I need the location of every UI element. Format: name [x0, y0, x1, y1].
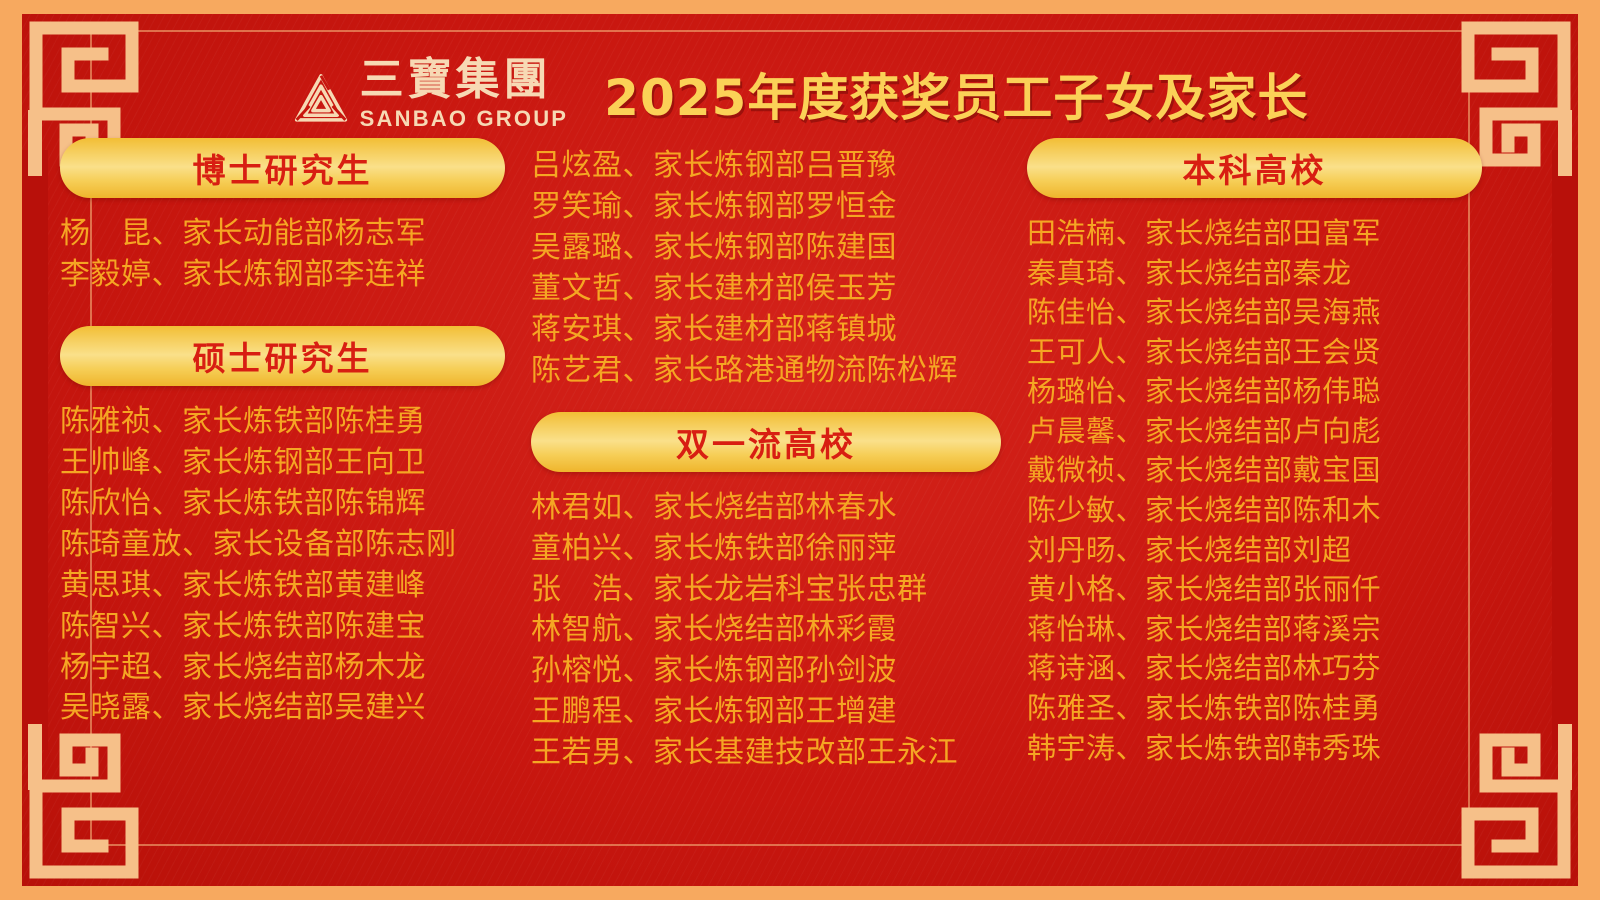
list-item: 杨 昆、家长动能部杨志军	[60, 214, 505, 255]
list-item: 杨宇超、家长烧结部杨木龙	[60, 648, 505, 689]
section-label-double-first-class: 双一流高校	[676, 418, 856, 466]
list-item: 陈欣怡、家长炼铁部陈锦辉	[60, 484, 505, 525]
list-item: 陈雅祯、家长炼铁部陈桂勇	[60, 402, 505, 443]
list-item: 蒋安琪、家长建材部蒋镇城	[531, 310, 1001, 351]
list-item: 戴微祯、家长烧结部戴宝国	[1027, 451, 1482, 491]
list-item: 王若男、家长基建技改部王永江	[531, 733, 1001, 774]
brand-name-cn: 三寶集團	[360, 58, 569, 102]
section-label-masters: 硕士研究生	[193, 332, 373, 380]
list-item: 童柏兴、家长炼铁部徐丽萍	[531, 529, 1001, 570]
list-item: 黄小格、家长烧结部张丽仟	[1027, 570, 1482, 610]
list-item: 卢晨馨、家长烧结部卢向彪	[1027, 412, 1482, 452]
brand-name-en: SANBAO GROUP	[360, 108, 569, 130]
list-item: 王帅峰、家长炼钢部王向卫	[60, 443, 505, 484]
list-item: 韩宇涛、家长炼铁部韩秀珠	[1027, 729, 1482, 769]
list-item: 孙榕悦、家长炼钢部孙剑波	[531, 651, 1001, 692]
section-label-doctoral: 博士研究生	[193, 144, 373, 192]
list-masters-middle: 吕炫盈、家长炼钢部吕晋豫 罗笑瑜、家长炼钢部罗恒金 吴露璐、家长炼钢部陈建国 董…	[531, 146, 1001, 392]
list-item: 秦真琦、家长烧结部秦龙	[1027, 254, 1482, 294]
list-item: 杨璐怡、家长烧结部杨伟聪	[1027, 372, 1482, 412]
list-undergraduate: 田浩楠、家长烧结部田富军 秦真琦、家长烧结部秦龙 陈佳怡、家长烧结部吴海燕 王可…	[1027, 214, 1482, 768]
list-masters-left: 陈雅祯、家长炼铁部陈桂勇 王帅峰、家长炼钢部王向卫 陈欣怡、家长炼铁部陈锦辉 陈…	[60, 402, 505, 730]
poster-root: 三寶集團 SANBAO GROUP 2025年度获奖员工子女及家长 博士研究生 …	[0, 0, 1600, 900]
section-header-double-first-class: 双一流高校	[531, 412, 1001, 472]
poster-header: 三寶集團 SANBAO GROUP 2025年度获奖员工子女及家长	[0, 48, 1600, 140]
column-left: 博士研究生 杨 昆、家长动能部杨志军 李毅婷、家长炼钢部李连祥 硕士研究生 陈雅…	[60, 138, 505, 768]
section-header-undergraduate: 本科高校	[1027, 138, 1482, 198]
list-item: 林君如、家长烧结部林春水	[531, 488, 1001, 529]
list-item: 刘丹旸、家长烧结部刘超	[1027, 531, 1482, 571]
list-item: 王可人、家长烧结部王会贤	[1027, 333, 1482, 373]
list-item: 林智航、家长烧结部林彩霞	[531, 610, 1001, 651]
column-right: 本科高校 田浩楠、家长烧结部田富军 秦真琦、家长烧结部秦龙 陈佳怡、家长烧结部吴…	[1027, 138, 1482, 768]
list-item: 黄思琪、家长炼铁部黄建峰	[60, 566, 505, 607]
list-item: 吕炫盈、家长炼钢部吕晋豫	[531, 146, 1001, 187]
content-columns: 博士研究生 杨 昆、家长动能部杨志军 李毅婷、家长炼钢部李连祥 硕士研究生 陈雅…	[60, 138, 1540, 768]
list-item: 蒋怡琳、家长烧结部蒋溪宗	[1027, 610, 1482, 650]
list-item: 陈琦童放、家长设备部陈志刚	[60, 525, 505, 566]
brand-lockup: 三寶集團 SANBAO GROUP	[292, 58, 569, 130]
list-item: 陈雅圣、家长炼铁部陈桂勇	[1027, 689, 1482, 729]
list-item: 陈艺君、家长路港通物流陈松辉	[531, 351, 1001, 392]
page-title: 2025年度获奖员工子女及家长	[604, 58, 1308, 130]
list-item: 陈佳怡、家长烧结部吴海燕	[1027, 293, 1482, 333]
list-doctoral: 杨 昆、家长动能部杨志军 李毅婷、家长炼钢部李连祥	[60, 214, 505, 296]
list-item: 罗笑瑜、家长炼钢部罗恒金	[531, 187, 1001, 228]
right-side-bar	[1552, 150, 1578, 750]
list-item: 王鹏程、家长炼钢部王增建	[531, 692, 1001, 733]
list-item: 吴露璐、家长炼钢部陈建国	[531, 228, 1001, 269]
section-label-undergraduate: 本科高校	[1183, 144, 1327, 192]
left-side-bar	[22, 150, 48, 750]
list-item: 陈智兴、家长炼铁部陈建宝	[60, 607, 505, 648]
sanbao-triangle-logo-icon	[292, 68, 350, 130]
list-item: 吴晓露、家长烧结部吴建兴	[60, 688, 505, 729]
list-item: 张 浩、家长龙岩科宝张忠群	[531, 570, 1001, 611]
list-item: 田浩楠、家长烧结部田富军	[1027, 214, 1482, 254]
list-item: 陈少敏、家长烧结部陈和木	[1027, 491, 1482, 531]
list-double-first-class: 林君如、家长烧结部林春水 童柏兴、家长炼铁部徐丽萍 张 浩、家长龙岩科宝张忠群 …	[531, 488, 1001, 775]
list-item: 李毅婷、家长炼钢部李连祥	[60, 255, 505, 296]
list-item: 董文哲、家长建材部侯玉芳	[531, 269, 1001, 310]
section-header-masters: 硕士研究生	[60, 326, 505, 386]
column-middle: 吕炫盈、家长炼钢部吕晋豫 罗笑瑜、家长炼钢部罗恒金 吴露璐、家长炼钢部陈建国 董…	[531, 138, 1001, 768]
list-item: 蒋诗涵、家长烧结部林巧芬	[1027, 649, 1482, 689]
section-header-doctoral: 博士研究生	[60, 138, 505, 198]
